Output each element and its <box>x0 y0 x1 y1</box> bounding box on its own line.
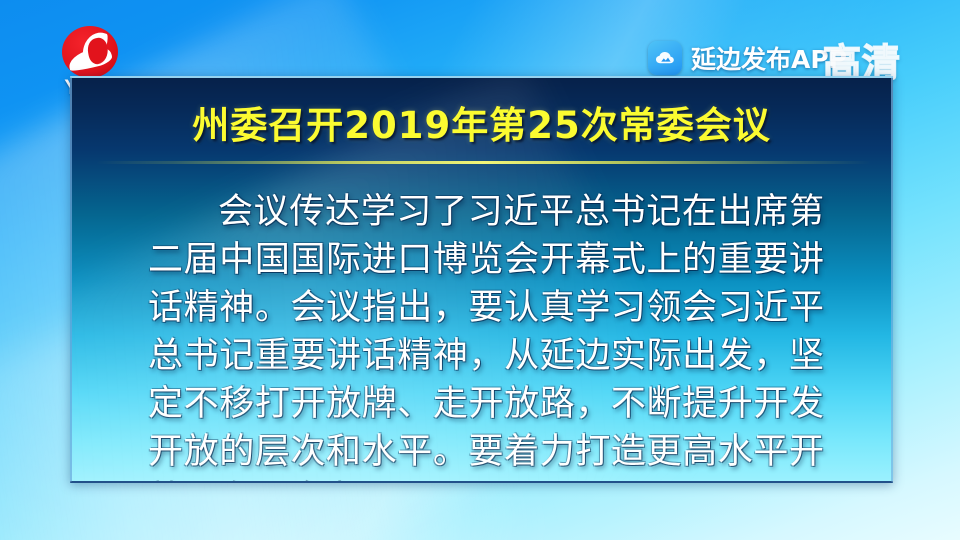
ybtv-crane-logo-icon <box>62 26 118 78</box>
panel-body-paragraph: 会议传达学习了习近平总书记在出席第二届中国国际进口博览会开幕式上的重要讲话精神。… <box>148 188 824 483</box>
app-watermark: 延边发布APP <box>648 40 847 76</box>
cloud-mountain-icon <box>648 41 682 75</box>
title-divider <box>96 161 871 164</box>
panel-title: 州委召开2019年第25次常委会议 <box>72 104 891 148</box>
panel-body-text: 会议传达学习了习近平总书记在出席第二届中国国际进口博览会开幕式上的重要讲话精神。… <box>148 188 824 483</box>
news-caption-panel: 州委召开2019年第25次常委会议 会议传达学习了习近平总书记在出席第二届中国国… <box>70 76 893 483</box>
broadcast-screen: YBTV-1 延边发布APP 高清 州委召开2019年第25次常委会议 会议传达… <box>0 0 960 540</box>
